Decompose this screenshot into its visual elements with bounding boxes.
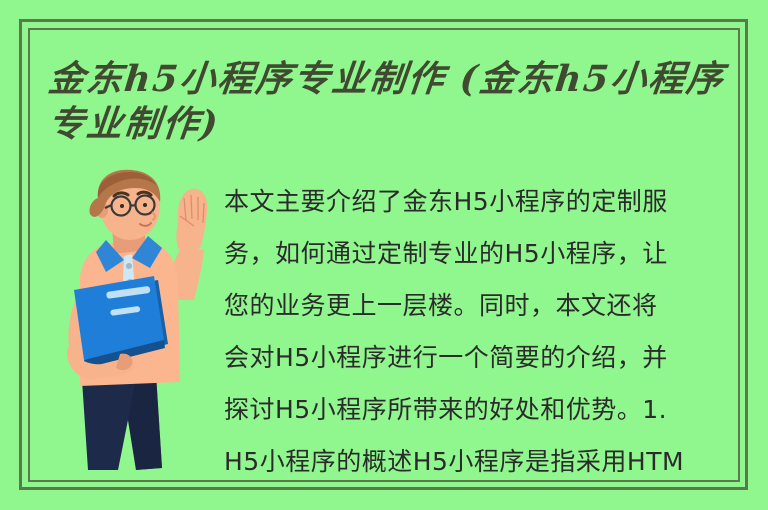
illustration-man-waving	[44, 168, 224, 484]
article-summary-line-3: 您的业务更上一层楼。同时，本文还将	[224, 280, 744, 332]
page-title-line-1: 金东h5小程序专业制作 (金东h5小程序	[46, 57, 741, 102]
man-waving-holding-blue-book-icon	[44, 168, 224, 484]
page-title-line-2: 专业制作)	[46, 102, 741, 147]
article-summary-paragraph: 本文主要介绍了金东H5小程序的定制服 务，如何通过定制专业的H5小程序，让 您的…	[224, 176, 744, 476]
article-summary-line-6: H5小程序的概述H5小程序是指采用HTM	[224, 436, 744, 476]
shirt-button-1	[126, 263, 132, 269]
page-title: 金东h5小程序专业制作 (金东h5小程序 专业制作)	[46, 57, 736, 147]
article-summary-line-1: 本文主要介绍了金东H5小程序的定制服	[224, 176, 744, 228]
article-summary-line-5: 探讨H5小程序所带来的好处和优势。1.	[224, 384, 744, 436]
eye-right	[143, 203, 147, 207]
article-summary-line-4: 会对H5小程序进行一个简要的介绍，并	[224, 332, 744, 384]
article-summary-line-2: 务，如何通过定制专业的H5小程序，让	[224, 228, 744, 280]
poster-canvas: 金东h5小程序专业制作 (金东h5小程序 专业制作)	[0, 0, 768, 510]
eye-left	[120, 204, 124, 208]
